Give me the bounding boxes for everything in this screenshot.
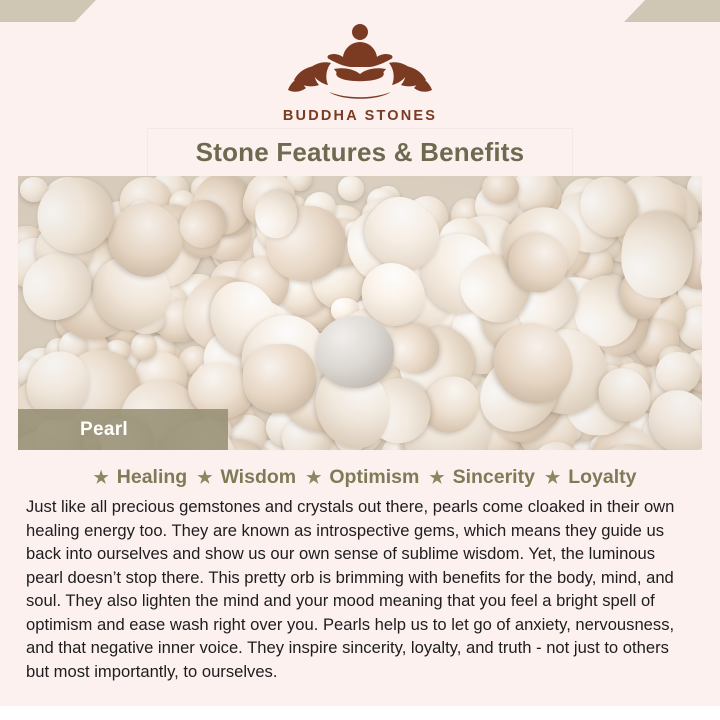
section-title-band: Stone Features & Benefits <box>148 129 572 176</box>
brand-name: BUDDHA STONES <box>0 108 720 124</box>
benefit-keyword-row: ★Healing★Wisdom★Optimism★Sincerity★Loyal… <box>0 466 720 489</box>
keyword-label: Loyalty <box>568 466 636 489</box>
star-icon: ★ <box>545 469 560 486</box>
bottom-bar <box>0 706 720 720</box>
keyword-loyalty: ★Loyalty <box>535 466 637 489</box>
keyword-sincerity: ★Sincerity <box>419 466 535 489</box>
star-icon: ★ <box>306 469 321 486</box>
pearl <box>131 333 156 360</box>
keyword-healing: ★Healing <box>84 466 188 489</box>
keyword-optimism: ★Optimism <box>296 466 419 489</box>
pearl <box>513 176 557 212</box>
page-title: Stone Features & Benefits <box>196 137 525 168</box>
keyword-wisdom: ★Wisdom <box>187 466 296 489</box>
keyword-label: Wisdom <box>220 466 296 489</box>
star-icon: ★ <box>94 469 109 486</box>
keyword-label: Sincerity <box>453 466 535 489</box>
brand-header: BUDDHA STONES <box>0 14 720 124</box>
lotus-meditation-icon <box>0 14 720 102</box>
stone-info-card: BUDDHA STONES Stone Features & Benefits … <box>0 0 720 720</box>
star-icon: ★ <box>429 469 444 486</box>
pearl <box>656 352 700 394</box>
pearl-grey-accent <box>316 316 394 388</box>
pearl <box>338 176 365 201</box>
keyword-label: Healing <box>117 466 187 489</box>
description-paragraph: Just like all precious gemstones and cry… <box>26 495 694 684</box>
stone-name: Pearl <box>80 419 128 441</box>
stone-name-bar: Pearl <box>18 409 228 450</box>
keyword-label: Optimism <box>329 466 419 489</box>
star-icon: ★ <box>197 469 212 486</box>
